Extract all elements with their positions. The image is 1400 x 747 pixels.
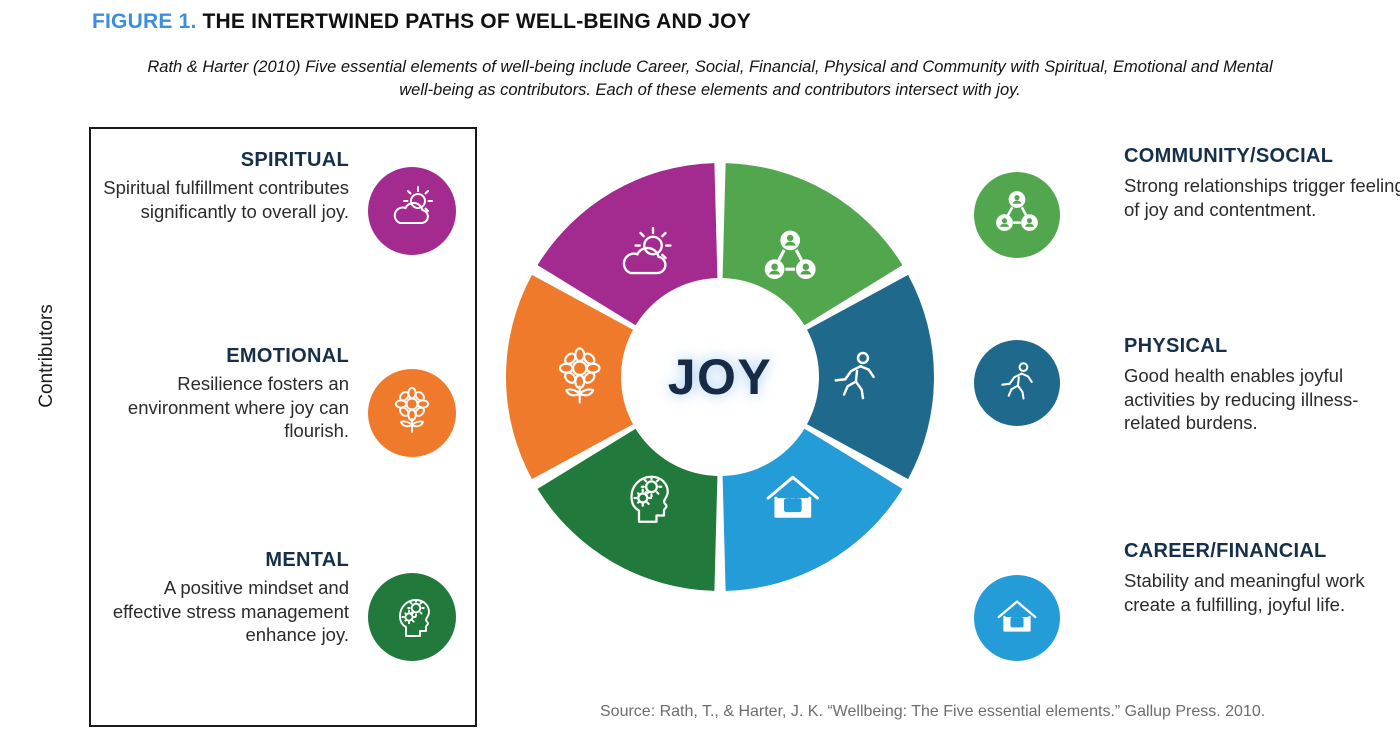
contributor-icon-badge-mental [368,573,456,661]
head-gears-icon [386,589,438,646]
element-text-community: COMMUNITY/SOCIAL Strong relationships tr… [1124,145,1400,221]
element-title-physical: PHYSICAL [1124,335,1400,358]
contributor-text-spiritual: SPIRITUAL Spiritual fulfillment contribu… [99,149,349,223]
house-briefcase-icon [992,591,1042,646]
joy-donut-chart: JOY [506,163,934,591]
people-network-icon [992,188,1042,243]
element-item-physical: PHYSICAL Good health enables joyful acti… [974,335,1394,500]
contributor-title-spiritual: SPIRITUAL [99,149,349,172]
figure-page: FIGURE 1. THE INTERTWINED PATHS OF WELL-… [0,0,1400,747]
element-text-career: CAREER/FINANCIAL Stability and meaningfu… [1124,540,1400,616]
contributor-item-mental: MENTAL A positive mindset and effective … [91,549,475,724]
contributor-title-emotional: EMOTIONAL [99,345,349,368]
contributor-body-spiritual: Spiritual fulfillment contributes signif… [99,176,349,223]
contributor-title-mental: MENTAL [99,549,349,572]
contributor-item-spiritual: SPIRITUAL Spiritual fulfillment contribu… [91,149,475,329]
contributor-text-emotional: EMOTIONAL Resilience fosters an environm… [99,345,349,443]
running-person-icon [993,357,1041,410]
element-body-career: Stability and meaningful work create a f… [1124,569,1400,616]
element-item-community-social: COMMUNITY/SOCIAL Strong relationships tr… [974,145,1394,295]
contributor-body-emotional: Resilience fosters an environment where … [99,372,349,443]
element-item-career-financial: CAREER/FINANCIAL Stability and meaningfu… [974,540,1394,705]
sun-cloud-icon [386,183,438,240]
element-title-career: CAREER/FINANCIAL [1124,540,1400,563]
figure-title-text: THE INTERTWINED PATHS OF WELL-BEING AND … [203,10,751,33]
figure-number: FIGURE 1. [92,10,196,33]
flower-icon [386,385,438,442]
element-title-community: COMMUNITY/SOCIAL [1124,145,1400,168]
element-body-community: Strong relationships trigger feelings of… [1124,174,1400,221]
contributor-icon-badge-spiritual [368,167,456,255]
donut-center-label: JOY [506,163,934,591]
source-citation: Source: Rath, T., & Harter, J. K. “Wellb… [600,703,1265,721]
element-icon-badge-career [974,575,1060,661]
contributor-icon-badge-emotional [368,369,456,457]
element-icon-badge-physical [974,340,1060,426]
element-body-physical: Good health enables joyful activities by… [1124,364,1400,435]
contributor-text-mental: MENTAL A positive mindset and effective … [99,549,349,647]
element-icon-badge-community [974,172,1060,258]
figure-caption: Rath & Harter (2010) Five essential elem… [140,56,1280,103]
contributor-item-emotional: EMOTIONAL Resilience fosters an environm… [91,345,475,505]
element-text-physical: PHYSICAL Good health enables joyful acti… [1124,335,1400,435]
contributors-panel: SPIRITUAL Spiritual fulfillment contribu… [89,127,477,727]
contributors-axis-label: Contributors [36,276,58,436]
page-title: FIGURE 1. THE INTERTWINED PATHS OF WELL-… [92,10,751,34]
contributor-body-mental: A positive mindset and effective stress … [99,576,349,647]
